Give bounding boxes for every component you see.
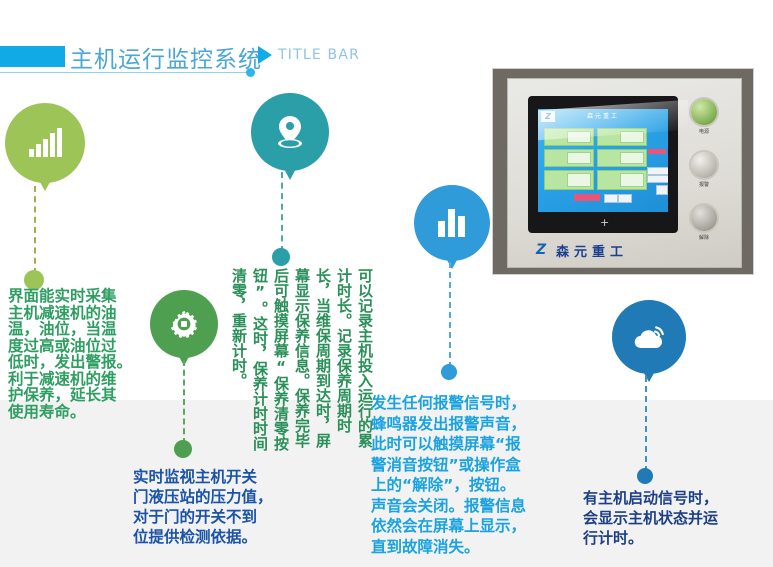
signal-bars-icon (5, 103, 85, 183)
page-title: 主机运行监控系统 (70, 40, 262, 74)
control-panel-body: Z 森元重工 + Z 森元重工 (507, 78, 742, 268)
touchscreen-bezel: Z 森元重工 + (528, 96, 678, 233)
screen-crosshair-icon: + (600, 216, 609, 229)
release-knob-label: 解除 (691, 234, 717, 241)
marker-runtime-record[interactable] (251, 93, 329, 171)
power-knob[interactable] (691, 99, 717, 125)
brand-logo-icon: Z (536, 243, 552, 257)
title-accent-swatch (0, 46, 65, 67)
gear-icon (150, 290, 218, 358)
marker-alarm-buzzer[interactable] (414, 185, 490, 261)
marker-hydraulic-pressure[interactable] (150, 290, 218, 358)
hmi-control-panel-photo: Z 森元重工 + Z 森元重工 (493, 69, 753, 274)
chevron-right-icon (258, 46, 272, 64)
title-bar: 主机运行监控系统 TITLE BAR (0, 40, 400, 74)
power-knob-label: 电源 (691, 128, 717, 135)
screen-field-3[interactable] (544, 149, 594, 167)
screen-field-6[interactable] (597, 170, 647, 190)
note-host-status: 有主机启动信号时， 会显示主机状态并运 行计时。 (583, 488, 773, 548)
connector-runtime-record (272, 172, 290, 267)
page-subtitle: TITLE BAR (278, 47, 360, 63)
bar-chart-icon (414, 185, 490, 261)
brand-text: 森元重工 (556, 241, 628, 260)
release-knob[interactable] (691, 205, 717, 231)
note-hydraulic-pressure: 实时监视主机开关 门液压站的压力值， 对于门的开关不到 位提供检测依据。 (133, 467, 343, 547)
screen-button-b[interactable] (647, 175, 668, 183)
screen-footer-btn-1[interactable] (604, 194, 618, 203)
screen-footer-alarm (574, 194, 600, 201)
screen-button-a[interactable] (647, 167, 668, 175)
panel-brand-label: Z 森元重工 (536, 239, 666, 261)
connector-hydraulic-pressure (174, 360, 192, 460)
connector-alarm-buzzer (440, 262, 458, 382)
screen-field-4[interactable] (597, 149, 647, 167)
alarm-knob-label: 报警 (691, 181, 717, 188)
screen-alarm-strip (648, 149, 666, 154)
marker-oil-monitor[interactable] (5, 103, 85, 183)
note-runtime-record: 可以记录主机投入运行的累计时长。记录保养周期时长，当维保周期到达时，屏幕显示保养… (228, 268, 375, 460)
location-pin-icon (251, 93, 329, 171)
title-divider (0, 72, 252, 73)
connector-oil-monitor (25, 186, 43, 290)
connector-host-status (636, 376, 654, 486)
alarm-knob[interactable] (691, 152, 717, 178)
note-oil-monitor: 界面能实时采集 主机减速机的油 温，油位，当温 度过高或油位过 低时，发出警报。… (8, 288, 168, 420)
screen-footer-btn-2[interactable] (618, 194, 632, 203)
title-divider-dot (246, 68, 255, 77)
cloud-signal-icon (612, 300, 686, 374)
screen-button-c[interactable] (656, 185, 668, 195)
note-alarm-buzzer: 发生任何报警信号时， 蜂鸣器发出报警声音， 此时可以触摸屏幕“报 警消音按钮”或… (371, 393, 586, 557)
screen-field-5[interactable] (544, 170, 594, 190)
marker-host-status[interactable] (612, 300, 686, 374)
